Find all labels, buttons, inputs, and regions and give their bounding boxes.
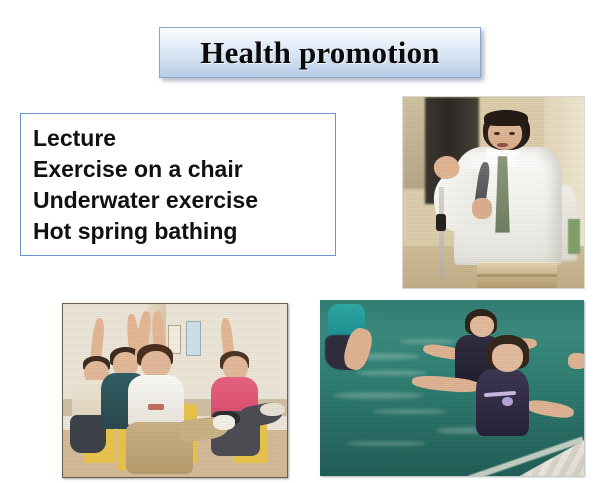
podium-edge: [477, 274, 557, 277]
water-ripple: [357, 370, 426, 375]
list-item: Exercise on a chair: [33, 154, 335, 185]
speaker-fringe: [484, 110, 527, 125]
wall-poster: [186, 321, 200, 356]
list-item: Underwater exercise: [33, 185, 335, 216]
swimmer-face: [492, 344, 524, 372]
swimmer-arm: [568, 353, 584, 369]
microphone-stand-clamp: [436, 214, 447, 231]
chair-exercise-photo: [62, 303, 288, 478]
shirt-logo: [148, 404, 164, 409]
participant-sock: [213, 415, 235, 431]
speaker-mic-hand: [472, 198, 492, 219]
underwater-exercise-photo-content: [320, 300, 584, 476]
lecture-photo: [403, 97, 584, 288]
program-list-box: Lecture Exercise on a chair Underwater e…: [20, 113, 336, 256]
microphone-stand: [439, 187, 443, 277]
speaker-eye-right: [509, 132, 515, 135]
water-ripple: [346, 441, 425, 446]
underwater-exercise-photo: [320, 300, 584, 476]
page-title: Health promotion: [200, 37, 439, 68]
title-banner: Health promotion: [159, 27, 481, 78]
list-item: Lecture: [33, 123, 335, 154]
participant-body: [128, 375, 184, 427]
lecture-photo-content: [403, 97, 584, 288]
water-ripple: [333, 392, 423, 399]
slide-canvas: Health promotion Lecture Exercise on a c…: [0, 0, 600, 483]
chair-exercise-photo-content: [63, 304, 287, 477]
list-item: Hot spring bathing: [33, 216, 335, 247]
water-ripple: [399, 339, 457, 344]
green-panel: [568, 219, 581, 253]
swimsuit-logo: [502, 397, 513, 406]
participant-shoe: [260, 403, 285, 417]
